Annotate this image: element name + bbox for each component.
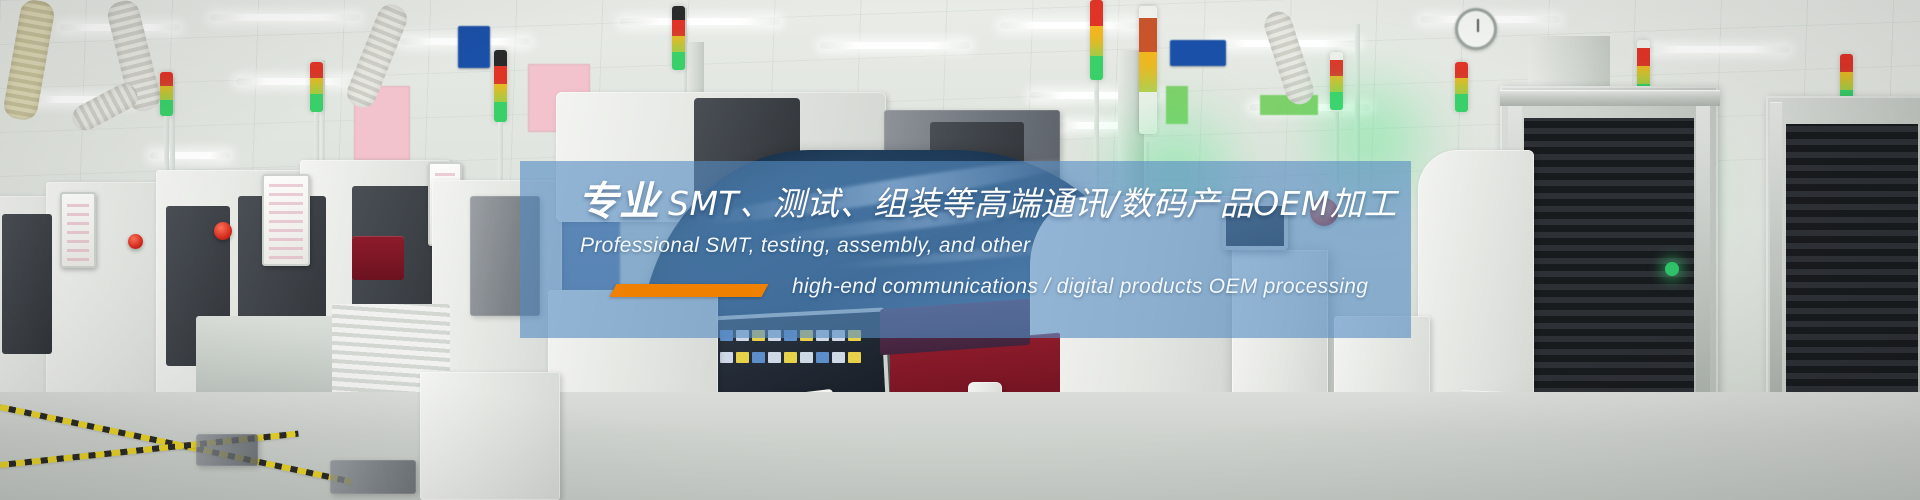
ceiling-light xyxy=(1000,22,1140,29)
overhead-sign xyxy=(458,26,490,68)
signal-tower-light xyxy=(160,72,173,116)
machine-touch-panel xyxy=(262,174,310,266)
rack-frame xyxy=(1696,94,1710,414)
emergency-stop-button[interactable] xyxy=(214,222,232,240)
machine-base xyxy=(196,434,258,466)
ceiling-light xyxy=(620,18,780,25)
signal-tower-light xyxy=(310,62,323,112)
rack-interior xyxy=(1524,118,1694,394)
ceiling-light xyxy=(150,152,230,159)
headline-keyword: 专业 xyxy=(578,179,660,225)
signal-tower-light xyxy=(494,50,507,122)
banner-text-overlay: 专业SMT、测试、组装等高端通讯/数码产品OEM加工 Professional … xyxy=(520,161,1411,338)
rack-interior xyxy=(1786,124,1918,392)
hero-banner: 专业SMT、测试、组装等高端通讯/数码产品OEM加工 Professional … xyxy=(0,0,1920,500)
signal-tower-light xyxy=(1090,0,1103,80)
ceiling-light xyxy=(1640,46,1790,53)
factory-floor xyxy=(0,392,1920,500)
signal-tower-light xyxy=(672,6,685,70)
smt-machine-panel xyxy=(2,214,52,354)
status-indicator xyxy=(1665,262,1679,276)
emergency-stop-button[interactable] xyxy=(128,234,143,249)
ceiling-light xyxy=(210,14,360,21)
rack-frame xyxy=(1770,102,1782,412)
signal-tower-light xyxy=(1455,62,1468,112)
wall-clock-icon xyxy=(1455,8,1497,50)
rack-frame xyxy=(1500,90,1720,106)
ceiling-light xyxy=(236,78,356,85)
smt-machine xyxy=(420,372,560,500)
machine-touch-panel xyxy=(60,192,96,268)
machine-label xyxy=(352,236,404,280)
banner-subtitle-line-1: Professional SMT, testing, assembly, and… xyxy=(580,234,1030,258)
machine-base xyxy=(330,460,416,494)
headline-rest: SMT、测试、组装等高端通讯/数码产品OEM加工 xyxy=(668,184,1397,223)
orange-accent-bar xyxy=(610,284,769,297)
overhead-sign xyxy=(1170,40,1226,66)
banner-headline: 专业SMT、测试、组装等高端通讯/数码产品OEM加工 xyxy=(578,169,1397,227)
banner-subtitle-line-2: high-end communications / digital produc… xyxy=(792,275,1368,299)
ceiling-light xyxy=(820,42,970,49)
hmi-button-row[interactable] xyxy=(720,352,861,363)
